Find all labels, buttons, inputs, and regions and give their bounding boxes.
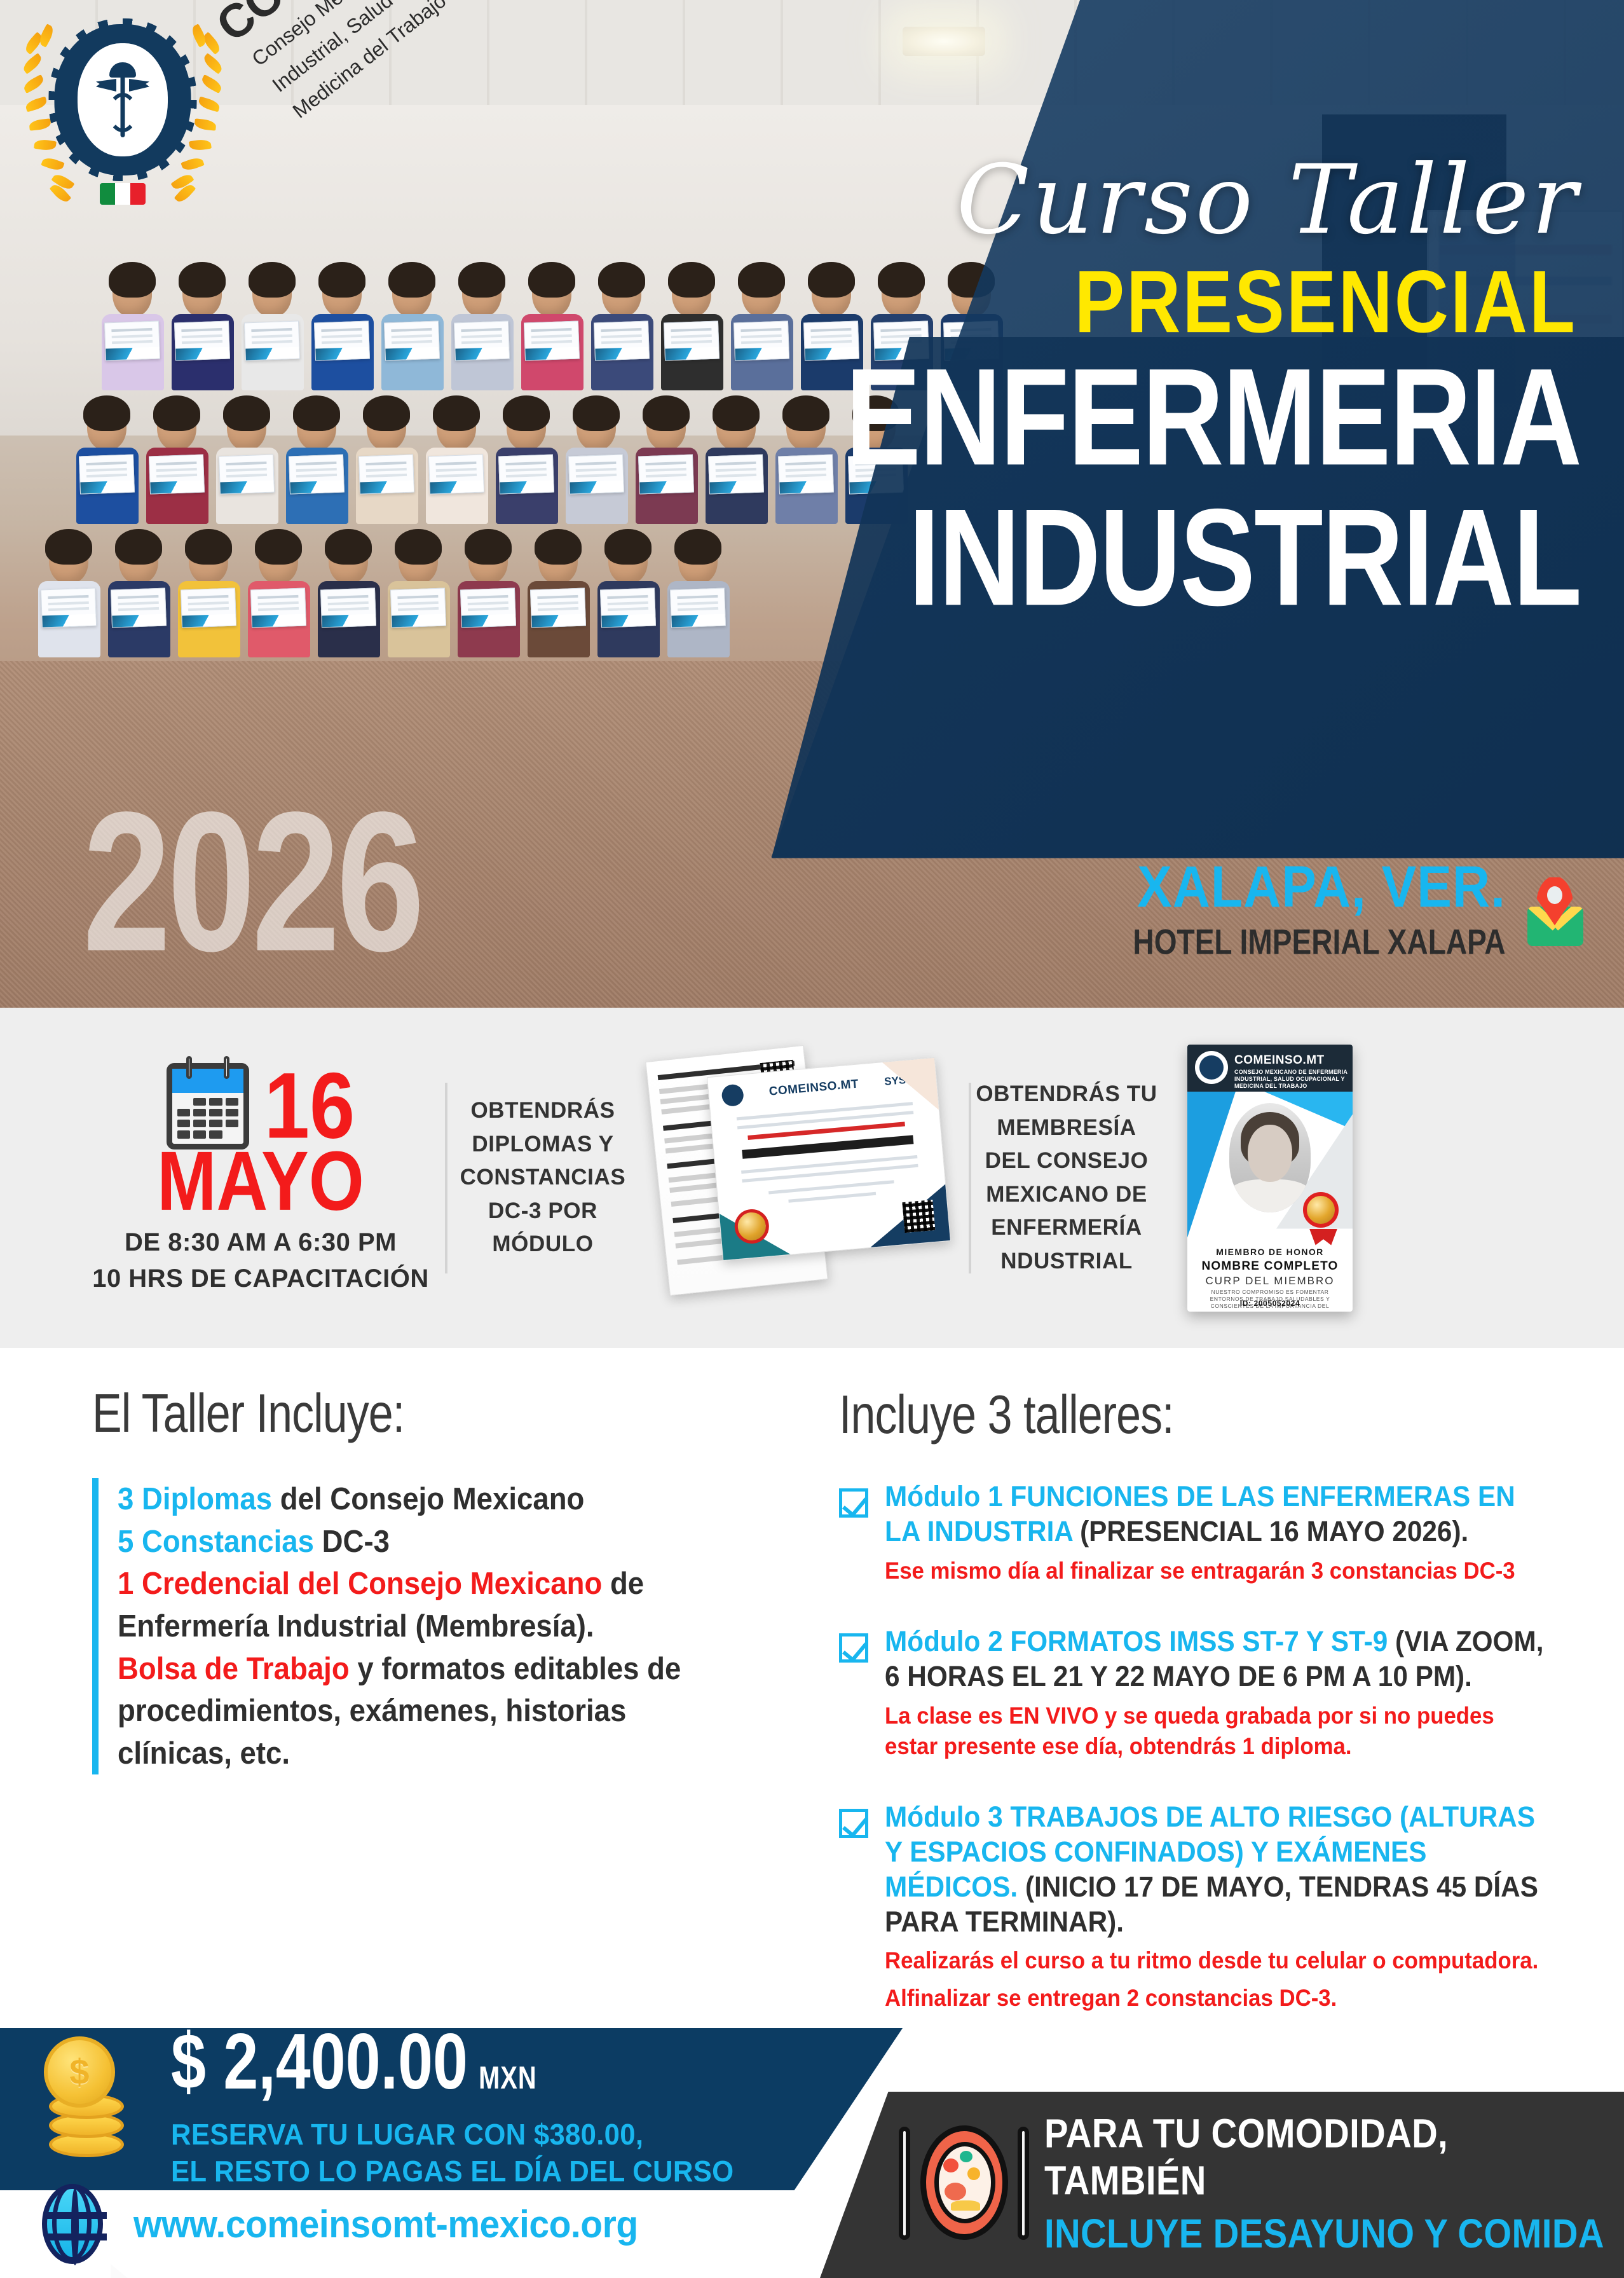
crest-inner-oval xyxy=(75,41,170,159)
module-title: Módulo 2 FORMATOS IMSS ST-7 Y ST-9 xyxy=(885,1625,1388,1657)
meals-banner: PARA TU COMODIDAD, TAMBIÉN INCLUYE DESAY… xyxy=(820,2092,1624,2278)
hero-title-line2: INDUSTRIAL xyxy=(664,493,1581,622)
list-item-lead: 3 Diplomas xyxy=(118,1482,272,1516)
location-venue: HOTEL IMPERIAL XALAPA xyxy=(1133,923,1506,963)
credential-card-preview: COMEINSO.MT CONSEJO MEXICANO DE ENFERMER… xyxy=(1162,1041,1416,1315)
module-detail: (PRESENCIAL 16 MAYO 2026). xyxy=(1080,1515,1468,1547)
includes-list: 3 Diplomas del Consejo Mexicano 5 Consta… xyxy=(92,1478,779,1774)
workshops-column: Incluye 3 talleres: Módulo 1 FUNCIONES D… xyxy=(839,1387,1592,2052)
info-band: 16 MAYO DE 8:30 AM A 6:30 PM 10 HRS DE C… xyxy=(0,1008,1624,1348)
list-item-rest: DC-3 xyxy=(314,1525,390,1559)
includes-heading: El Taller Incluye: xyxy=(92,1383,724,1444)
credential-subtitle: CONSEJO MEXICANO DE ENFERMERIA INDUSTRIA… xyxy=(1234,1069,1348,1090)
list-item: Bolsa de Trabajo y formatos editables de… xyxy=(118,1648,732,1775)
certificate-brand: COMEINSO.MT xyxy=(768,1077,859,1099)
module-note: Realizarás el curso a tu ritmo desde tu … xyxy=(885,1945,1550,1976)
brand-text: COMEINSO.MT Consejo Mexicano de Enfermer… xyxy=(208,0,618,178)
checkbox-checked-icon xyxy=(839,1809,868,1838)
hero-title-stack: Curso Taller PRESENCIAL ENFERMERIA INDUS… xyxy=(664,153,1592,598)
brand-logo: COMEINSO.MT Consejo Mexicano de Enfermer… xyxy=(18,11,577,228)
diplomas-note: OBTENDRÁS DIPLOMAS Y CONSTANCIAS DC-3 PO… xyxy=(447,1094,638,1261)
deposit-line-1: RESERVA TU LUGAR CON $380.00, xyxy=(171,2117,866,2153)
certificate-logo-icon xyxy=(721,1083,744,1107)
credential-ribbon-icon xyxy=(1303,1192,1339,1228)
deposit-note: RESERVA TU LUGAR CON $380.00, EL RESTO L… xyxy=(171,2117,866,2190)
hero-section: 2026 Curso Taller PRESENCIAL ENFERMERIA … xyxy=(0,0,1624,1008)
membership-note: OBTENDRÁS TU MEMBRESÍA DEL CONSEJO MEXIC… xyxy=(971,1078,1162,1278)
credential-photo xyxy=(1229,1103,1311,1212)
list-item-lead: 1 Credencial del Consejo Mexicano xyxy=(118,1567,602,1601)
event-duration: 10 HRS DE CAPACITACIÓN xyxy=(76,1265,445,1293)
coin-stack-icon: $ xyxy=(35,2062,156,2157)
module-note: La clase es EN VIVO y se queda grabada p… xyxy=(885,1701,1550,1762)
list-item: 5 Constancias DC-3 xyxy=(118,1521,732,1563)
list-item: 3 Diplomas del Consejo Mexicano xyxy=(118,1478,732,1521)
meals-line-1: PARA TU COMODIDAD, TAMBIÉN xyxy=(1044,2110,1607,2204)
list-item-rest: del Consejo Mexicano xyxy=(272,1482,584,1516)
credential-honor-label: MIEMBRO DE HONOR xyxy=(1187,1247,1353,1257)
hero-title: ENFERMERIA INDUSTRIAL xyxy=(664,352,1592,622)
ceiling-light xyxy=(903,27,985,56)
globe-cursor-icon xyxy=(38,2183,109,2265)
location-city: XALAPA, VER. xyxy=(1117,858,1506,917)
mexico-flag-icon xyxy=(100,183,146,205)
caduceus-gear-laurel-crest-icon xyxy=(24,15,221,219)
event-schedule: DE 8:30 AM A 6:30 PM xyxy=(76,1228,445,1257)
hero-modality-badge: PRESENCIAL xyxy=(664,257,1592,346)
plate-fork-knife-icon xyxy=(896,2122,1033,2249)
credential-curp: CURP DEL MIEMBRO xyxy=(1187,1275,1353,1287)
list-item-lead: 5 Constancias xyxy=(118,1525,314,1559)
includes-column: El Taller Incluye: 3 Diplomas del Consej… xyxy=(92,1386,779,1774)
credential-id: ID: 2005052024 xyxy=(1187,1299,1353,1308)
list-item: Módulo 2 FORMATOS IMSS ST-7 Y ST-9 (VIA … xyxy=(839,1624,1592,1762)
credential-name: NOMBRE COMPLETO xyxy=(1187,1259,1353,1273)
date-block: 16 MAYO DE 8:30 AM A 6:30 PM 10 HRS DE C… xyxy=(0,1063,445,1293)
certificate-qr-code xyxy=(902,1200,935,1233)
module-note: Ese mismo día al finalizar se entragarán… xyxy=(885,1556,1550,1586)
price-banner: $ $ 2,400.00 MXN RESERVA TU LUGAR CON $3… xyxy=(0,2028,903,2190)
meals-line-2: INCLUYE DESAYUNO Y COMIDA xyxy=(1044,2211,1607,2258)
workshops-heading: Incluye 3 talleres: xyxy=(839,1384,1532,1446)
price-amount-row: $ 2,400.00 MXN xyxy=(171,2022,866,2102)
flyer-root: 2026 Curso Taller PRESENCIAL ENFERMERIA … xyxy=(0,0,1624,2278)
list-item: Módulo 3 TRABAJOS DE ALTO RIESGO (ALTURA… xyxy=(839,1800,1592,2014)
event-month: MAYO xyxy=(76,1139,445,1223)
content-section: El Taller Incluye: 3 Diplomas del Consej… xyxy=(0,1348,1624,2047)
hero-title-line1: ENFERMERIA xyxy=(845,340,1581,494)
hero-kicker: Curso Taller xyxy=(664,153,1592,248)
credential-logo-icon xyxy=(1195,1051,1228,1084)
certificates-collage: COMEINSO.MT SYSOM xyxy=(638,1041,969,1315)
website-footer[interactable]: www.comeinsomt-mexico.org xyxy=(38,2179,737,2268)
list-item: Módulo 1 FUNCIONES DE LAS ENFERMERAS EN … xyxy=(839,1479,1592,1586)
diploma-certificate: COMEINSO.MT SYSOM xyxy=(707,1057,951,1260)
location-block: XALAPA, VER. HOTEL IMPERIAL XALAPA xyxy=(822,861,1585,960)
price-currency: MXN xyxy=(479,2062,537,2094)
map-pin-icon xyxy=(1521,876,1585,946)
year-watermark: 2026 xyxy=(83,783,421,982)
website-url[interactable]: www.comeinsomt-mexico.org xyxy=(133,2202,638,2246)
price-amount: $ 2,400.00 xyxy=(171,2022,468,2102)
list-item-lead: Bolsa de Trabajo xyxy=(118,1652,350,1686)
checkbox-checked-icon xyxy=(839,1488,868,1518)
caduceus-icon xyxy=(99,62,147,137)
credential-brand: COMEINSO.MT xyxy=(1234,1053,1325,1067)
checkbox-checked-icon xyxy=(839,1633,868,1663)
list-item: 1 Credencial del Consejo Mexicano de Enf… xyxy=(118,1563,732,1647)
module-note-secondary: Alfinalizar se entregan 2 constancias DC… xyxy=(885,1983,1550,2014)
